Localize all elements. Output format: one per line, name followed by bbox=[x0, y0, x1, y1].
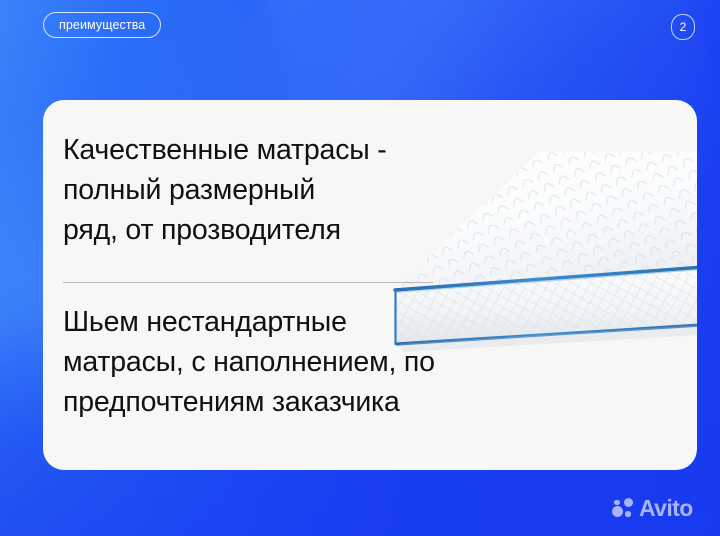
card-heading: Качественные матрасы - полный размерный … bbox=[63, 130, 493, 250]
page-number-indicator: 2 bbox=[671, 14, 695, 40]
card-divider bbox=[63, 282, 433, 283]
section-badge-label: преимущества bbox=[59, 18, 145, 32]
slide-canvas: преимущества 2 bbox=[0, 0, 720, 536]
content-card: Качественные матрасы - полный размерный … bbox=[43, 100, 697, 470]
card-text-block: Качественные матрасы - полный размерный … bbox=[63, 100, 583, 470]
page-number-label: 2 bbox=[680, 20, 687, 34]
section-badge: преимущества bbox=[43, 12, 161, 38]
card-body-text: Шьем нестандартные матрасы, с наполнение… bbox=[63, 302, 563, 422]
